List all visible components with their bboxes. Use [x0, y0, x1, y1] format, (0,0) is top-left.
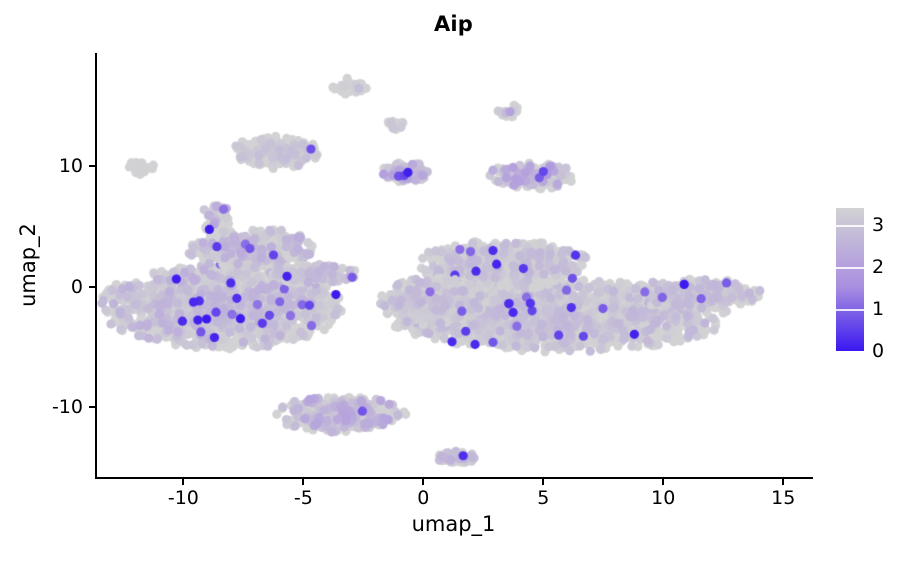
x-tick-mark [782, 479, 784, 485]
page-title: Aip [95, 12, 812, 36]
colorbar: 0123 [836, 208, 911, 353]
y-tick-mark [89, 286, 95, 288]
y-tick-mark [89, 165, 95, 167]
colorbar-tick-label: 3 [872, 214, 884, 236]
y-tick-label: 10 [59, 155, 83, 177]
x-tick-mark [542, 479, 544, 485]
colorbar-tick-label: 0 [872, 340, 884, 362]
x-tick-mark [422, 479, 424, 485]
y-axis-label: umap_2 [16, 223, 40, 307]
x-axis-spine [95, 477, 813, 479]
x-tick-label: -5 [294, 487, 313, 509]
colorbar-tick-label: 1 [872, 298, 884, 320]
colorbar-tick-mark [836, 267, 864, 269]
x-tick-label: 15 [771, 487, 795, 509]
y-tick-mark [89, 406, 95, 408]
colorbar-tick-label: 2 [872, 256, 884, 278]
colorbar-tick-mark [836, 309, 864, 311]
x-tick-label: 0 [417, 487, 429, 509]
x-tick-label: 10 [651, 487, 675, 509]
x-tick-mark [302, 479, 304, 485]
colorbar-gradient [836, 208, 864, 351]
x-tick-mark [182, 479, 184, 485]
x-tick-label: 5 [537, 487, 549, 509]
scatter-plot-canvas [97, 53, 812, 477]
colorbar-tick-mark [836, 225, 864, 227]
x-axis-label: umap_1 [95, 512, 812, 536]
y-tick-label: 0 [71, 276, 83, 298]
x-tick-mark [662, 479, 664, 485]
umap-figure: Aip -10-5051015 100-10 umap_1 umap_2 012… [0, 0, 911, 562]
y-tick-label: -10 [52, 396, 83, 418]
x-tick-label: -10 [168, 487, 199, 509]
y-axis-spine [95, 53, 97, 479]
